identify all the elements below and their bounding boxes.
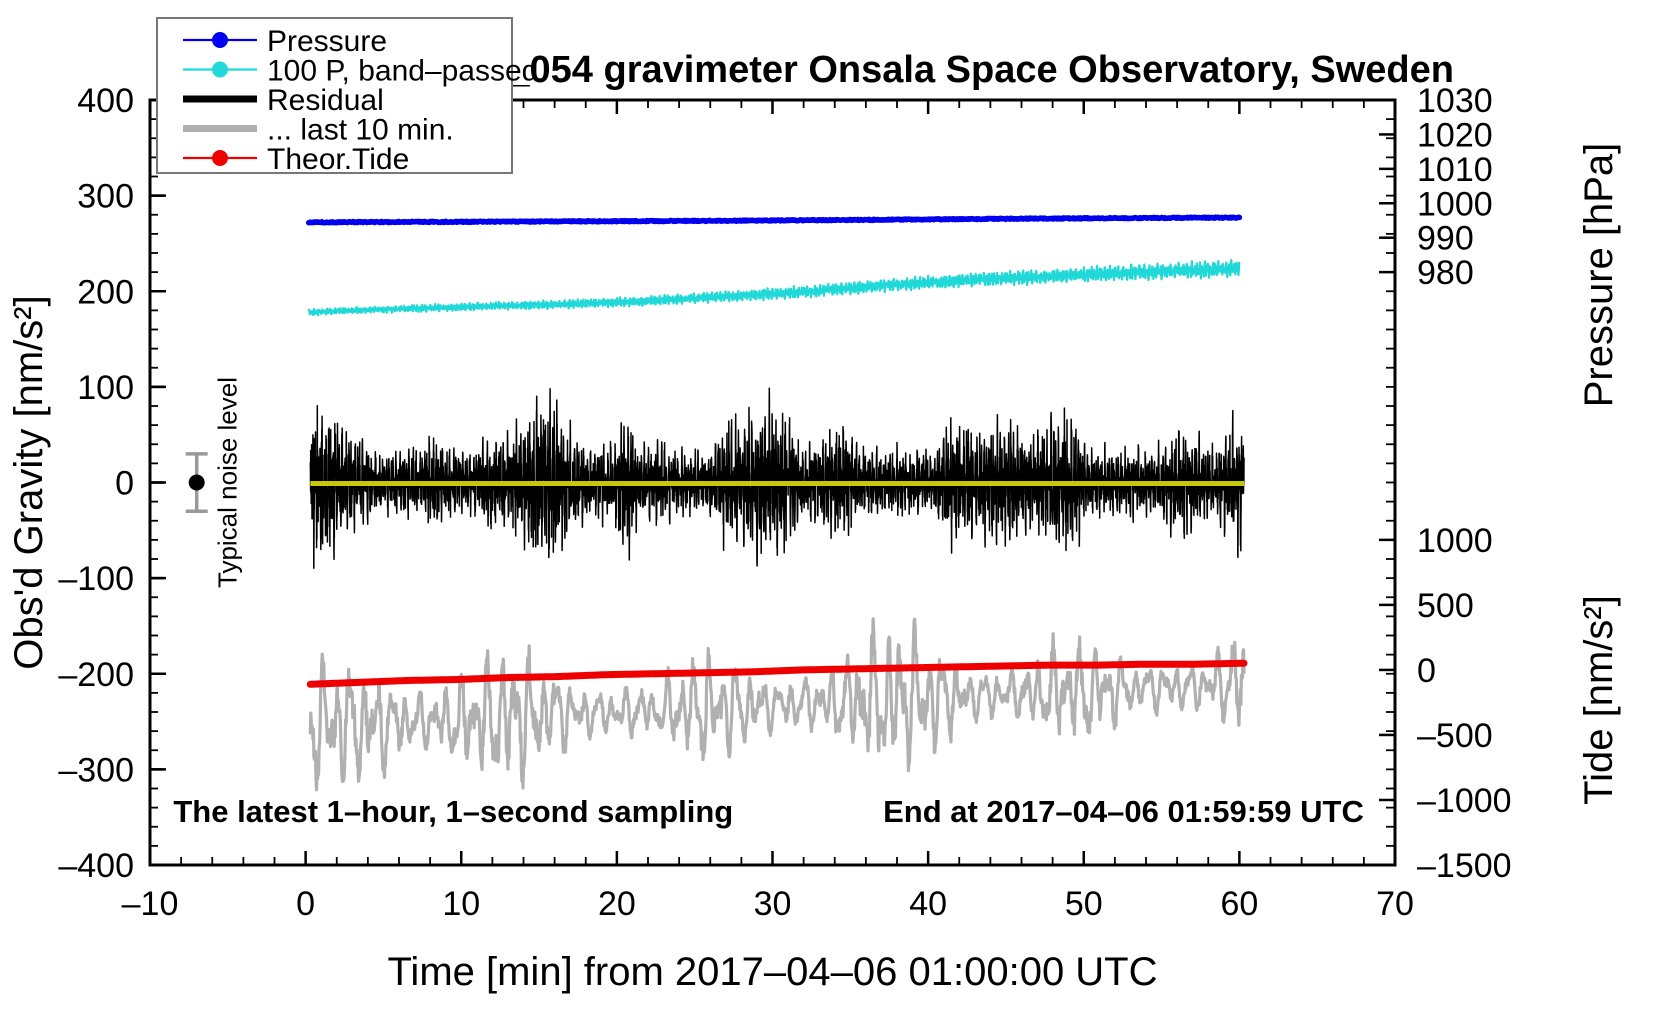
x-axis-labels: –10010203040506070	[122, 885, 1414, 923]
tide-tick-label: 500	[1417, 587, 1474, 625]
x-tick-label: 30	[754, 885, 792, 923]
x-tick-label: 40	[909, 885, 947, 923]
y-axis-title-left: Obs'd Gravity [nm/s²]	[7, 295, 51, 669]
tide-tick-label: 1000	[1417, 522, 1493, 560]
y-axis-title-right-pressure: Pressure [hPa]	[1577, 143, 1621, 408]
y-tick-label: 400	[77, 82, 134, 120]
legend-label-4: Theor.Tide	[267, 143, 409, 176]
legend-label-2: Residual	[267, 84, 384, 117]
pressure-tick-label: 1020	[1417, 116, 1493, 154]
x-tick-label: 20	[598, 885, 636, 923]
legend-label-3: ... last 10 min.	[267, 114, 454, 147]
tide-tick-label: 0	[1417, 652, 1436, 690]
legend-label-1: 100 P, band–passed	[267, 55, 538, 88]
y-axis-right-tide-labels: 10005000–500–1000–1500	[1379, 522, 1512, 885]
pressure-tick-label: 990	[1417, 220, 1474, 258]
y-tick-label: 200	[77, 273, 134, 311]
x-tick-label: 50	[1065, 885, 1103, 923]
x-tick-label: 10	[442, 885, 480, 923]
tide-tick-label: –1500	[1417, 847, 1512, 885]
x-tick-label: 60	[1220, 885, 1258, 923]
sampling-note: The latest 1–hour, 1–second sampling	[173, 794, 733, 829]
y-tick-label: –300	[58, 751, 134, 789]
y-tick-label: –200	[58, 656, 134, 694]
noise-marker	[189, 475, 205, 491]
gravimeter-plot: 4003002001000–100–200–300–400–1001020304…	[0, 0, 1660, 1020]
chart-title: SCG_054 gravimeter Onsala Space Observat…	[426, 49, 1454, 91]
legend-marker-4	[212, 150, 228, 166]
y-axis-title-right-tide: Tide [nm/s²]	[1577, 595, 1621, 805]
legend-label-0: Pressure	[267, 25, 387, 58]
y-tick-label: 0	[115, 465, 134, 503]
pressure-tick-label: 1010	[1417, 151, 1493, 189]
chart-canvas: 4003002001000–100–200–300–400–1001020304…	[0, 0, 1660, 1020]
x-tick-label: 0	[296, 885, 315, 923]
y-tick-label: –100	[58, 560, 134, 598]
tide-tick-label: –500	[1417, 717, 1493, 755]
y-tick-label: –400	[58, 847, 134, 885]
end-time-note: End at 2017–04–06 01:59:59 UTC	[883, 794, 1364, 829]
tide-tick-label: –1000	[1417, 782, 1512, 820]
y-tick-label: 100	[77, 369, 134, 407]
pressure-tick-label: 1000	[1417, 185, 1493, 223]
x-tick-label: 70	[1376, 885, 1414, 923]
pressure-tick-label: 980	[1417, 254, 1474, 292]
y-tick-label: 300	[77, 178, 134, 216]
legend: Pressure100 P, band–passedResidual... la…	[157, 18, 538, 176]
x-tick-label: –10	[122, 885, 179, 923]
legend-marker-1	[212, 62, 228, 78]
typical-noise-level-label: Typical noise level	[213, 377, 243, 588]
legend-marker-0	[212, 32, 228, 48]
x-axis-title: Time [min] from 2017–04–06 01:00:00 UTC	[387, 950, 1157, 994]
